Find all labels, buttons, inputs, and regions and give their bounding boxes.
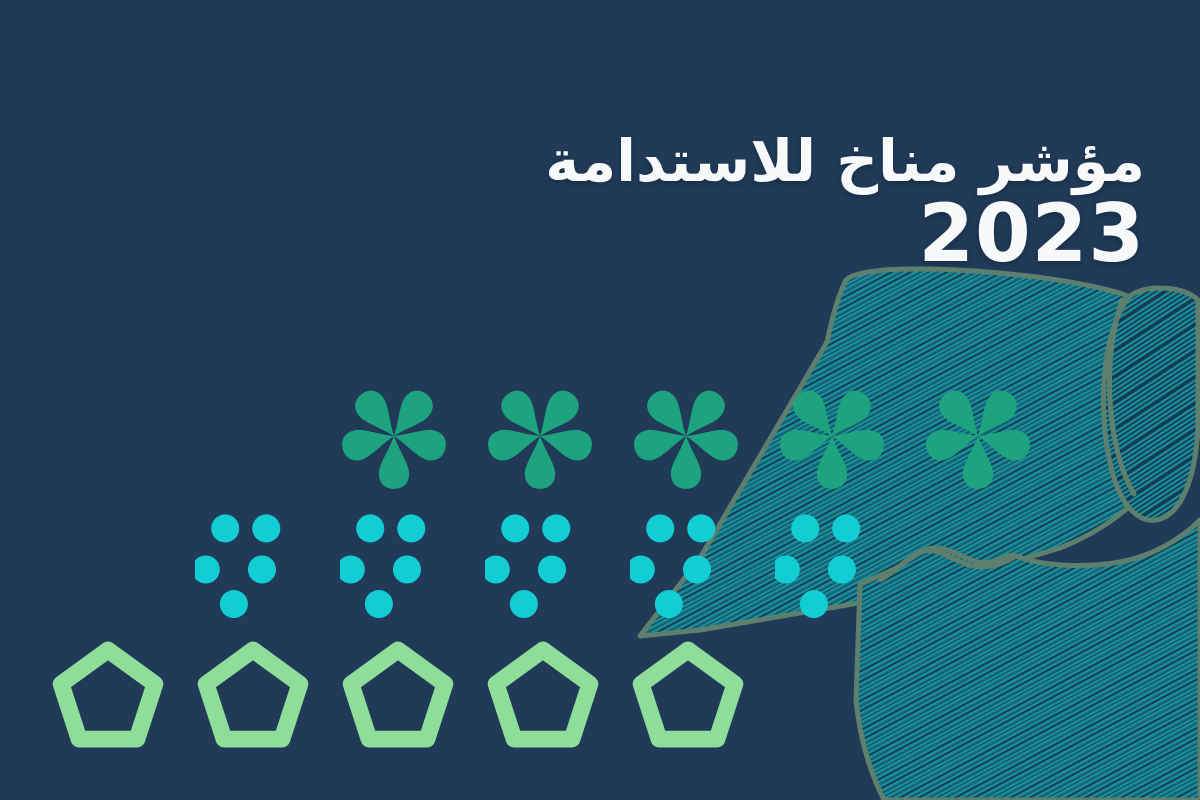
map-region-bubiyan-island [1103, 288, 1198, 520]
dot [687, 514, 715, 542]
dot [646, 514, 674, 542]
dot [393, 555, 421, 583]
five-dot-cluster-icon [630, 508, 738, 618]
pentagon-outline-icon [632, 636, 744, 758]
pentagon-outline-icon [487, 636, 599, 758]
dot [356, 514, 384, 542]
six-petal-flower-icon [778, 380, 886, 492]
five-dot-cluster-icon [485, 508, 593, 618]
six-petal-flower-icon [340, 380, 448, 492]
dot [683, 555, 711, 583]
dot [220, 590, 248, 618]
pentagon-icon-row [52, 636, 744, 758]
six-petal-flower-icon [924, 380, 1032, 492]
dot [538, 555, 566, 583]
pentagon-outline-icon [197, 636, 309, 758]
page-title: مؤشر مناخ للاستدامة [545, 130, 1145, 193]
title-year: 2023 [545, 195, 1145, 273]
dot [252, 514, 280, 542]
dot [397, 514, 425, 542]
dot [211, 514, 239, 542]
poster-canvas: مؤشر مناخ للاستدامة 2023 [0, 0, 1200, 800]
dot-cluster-row [195, 508, 883, 618]
dot [195, 555, 220, 583]
five-dot-cluster-icon [340, 508, 448, 618]
pentagon-outline-icon [342, 636, 454, 758]
five-dot-cluster-icon [195, 508, 303, 618]
dot [800, 590, 828, 618]
title-block: مؤشر مناخ للاستدامة 2023 [545, 130, 1145, 273]
dot [510, 590, 538, 618]
dot [501, 514, 529, 542]
dot [542, 514, 570, 542]
dot [340, 555, 365, 583]
map-region-southern-zone [856, 520, 1200, 800]
flower-icon-row [340, 380, 1032, 492]
dot [655, 590, 683, 618]
five-dot-cluster-icon [775, 508, 883, 618]
dot [832, 514, 860, 542]
dot [365, 590, 393, 618]
dot [828, 555, 856, 583]
pentagon-outline-icon [52, 636, 164, 758]
dot [775, 555, 800, 583]
dot [248, 555, 276, 583]
dot [791, 514, 819, 542]
dot [485, 555, 510, 583]
six-petal-flower-icon [486, 380, 594, 492]
dot [630, 555, 655, 583]
six-petal-flower-icon [632, 380, 740, 492]
